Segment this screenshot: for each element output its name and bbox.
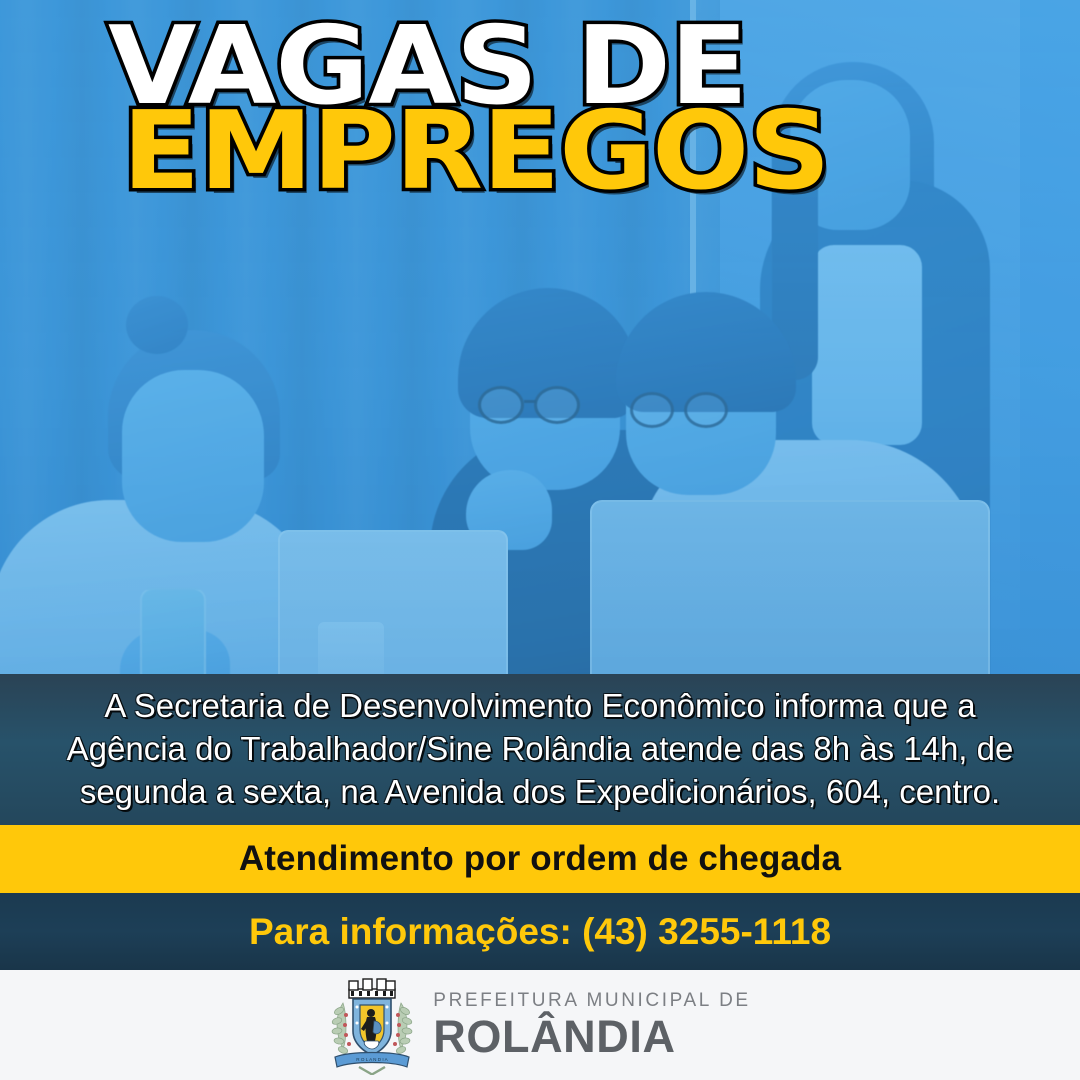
info-line-3: segunda a sexta, na Avenida dos Expedici… — [80, 771, 1000, 814]
svg-text:R O L A N D I A: R O L A N D I A — [357, 1057, 389, 1062]
contact-text: Para informações: (43) 3255-1118 — [249, 911, 831, 953]
info-band: A Secretaria de Desenvolvimento Econômic… — [0, 674, 1080, 825]
headline: VAGAS DE EMPREGOS — [0, 0, 1080, 197]
footer: R O L A N D I A PREFEITURA MUNICIPAL DE … — [0, 970, 1080, 1080]
job-vacancy-poster: VAGAS DE EMPREGOS A Secretaria de Desenv… — [0, 0, 1080, 1080]
rolandia-coat-of-arms-icon: R O L A N D I A — [329, 975, 415, 1075]
highlight-band: Atendimento por ordem de chegada — [0, 825, 1080, 893]
headline-line-2: EMPREGOS — [122, 107, 1080, 198]
logo-line-1: PREFEITURA MUNICIPAL DE — [433, 991, 750, 1010]
contact-band: Para informações: (43) 3255-1118 — [0, 893, 1080, 970]
info-line-1: A Secretaria de Desenvolvimento Econômic… — [104, 685, 975, 728]
logo-text: PREFEITURA MUNICIPAL DE ROLÂNDIA — [433, 991, 750, 1059]
info-line-2: Agência do Trabalhador/Sine Rolândia ate… — [67, 728, 1014, 771]
highlight-text: Atendimento por ordem de chegada — [239, 839, 841, 879]
logo-line-2: ROLÂNDIA — [433, 1014, 750, 1059]
